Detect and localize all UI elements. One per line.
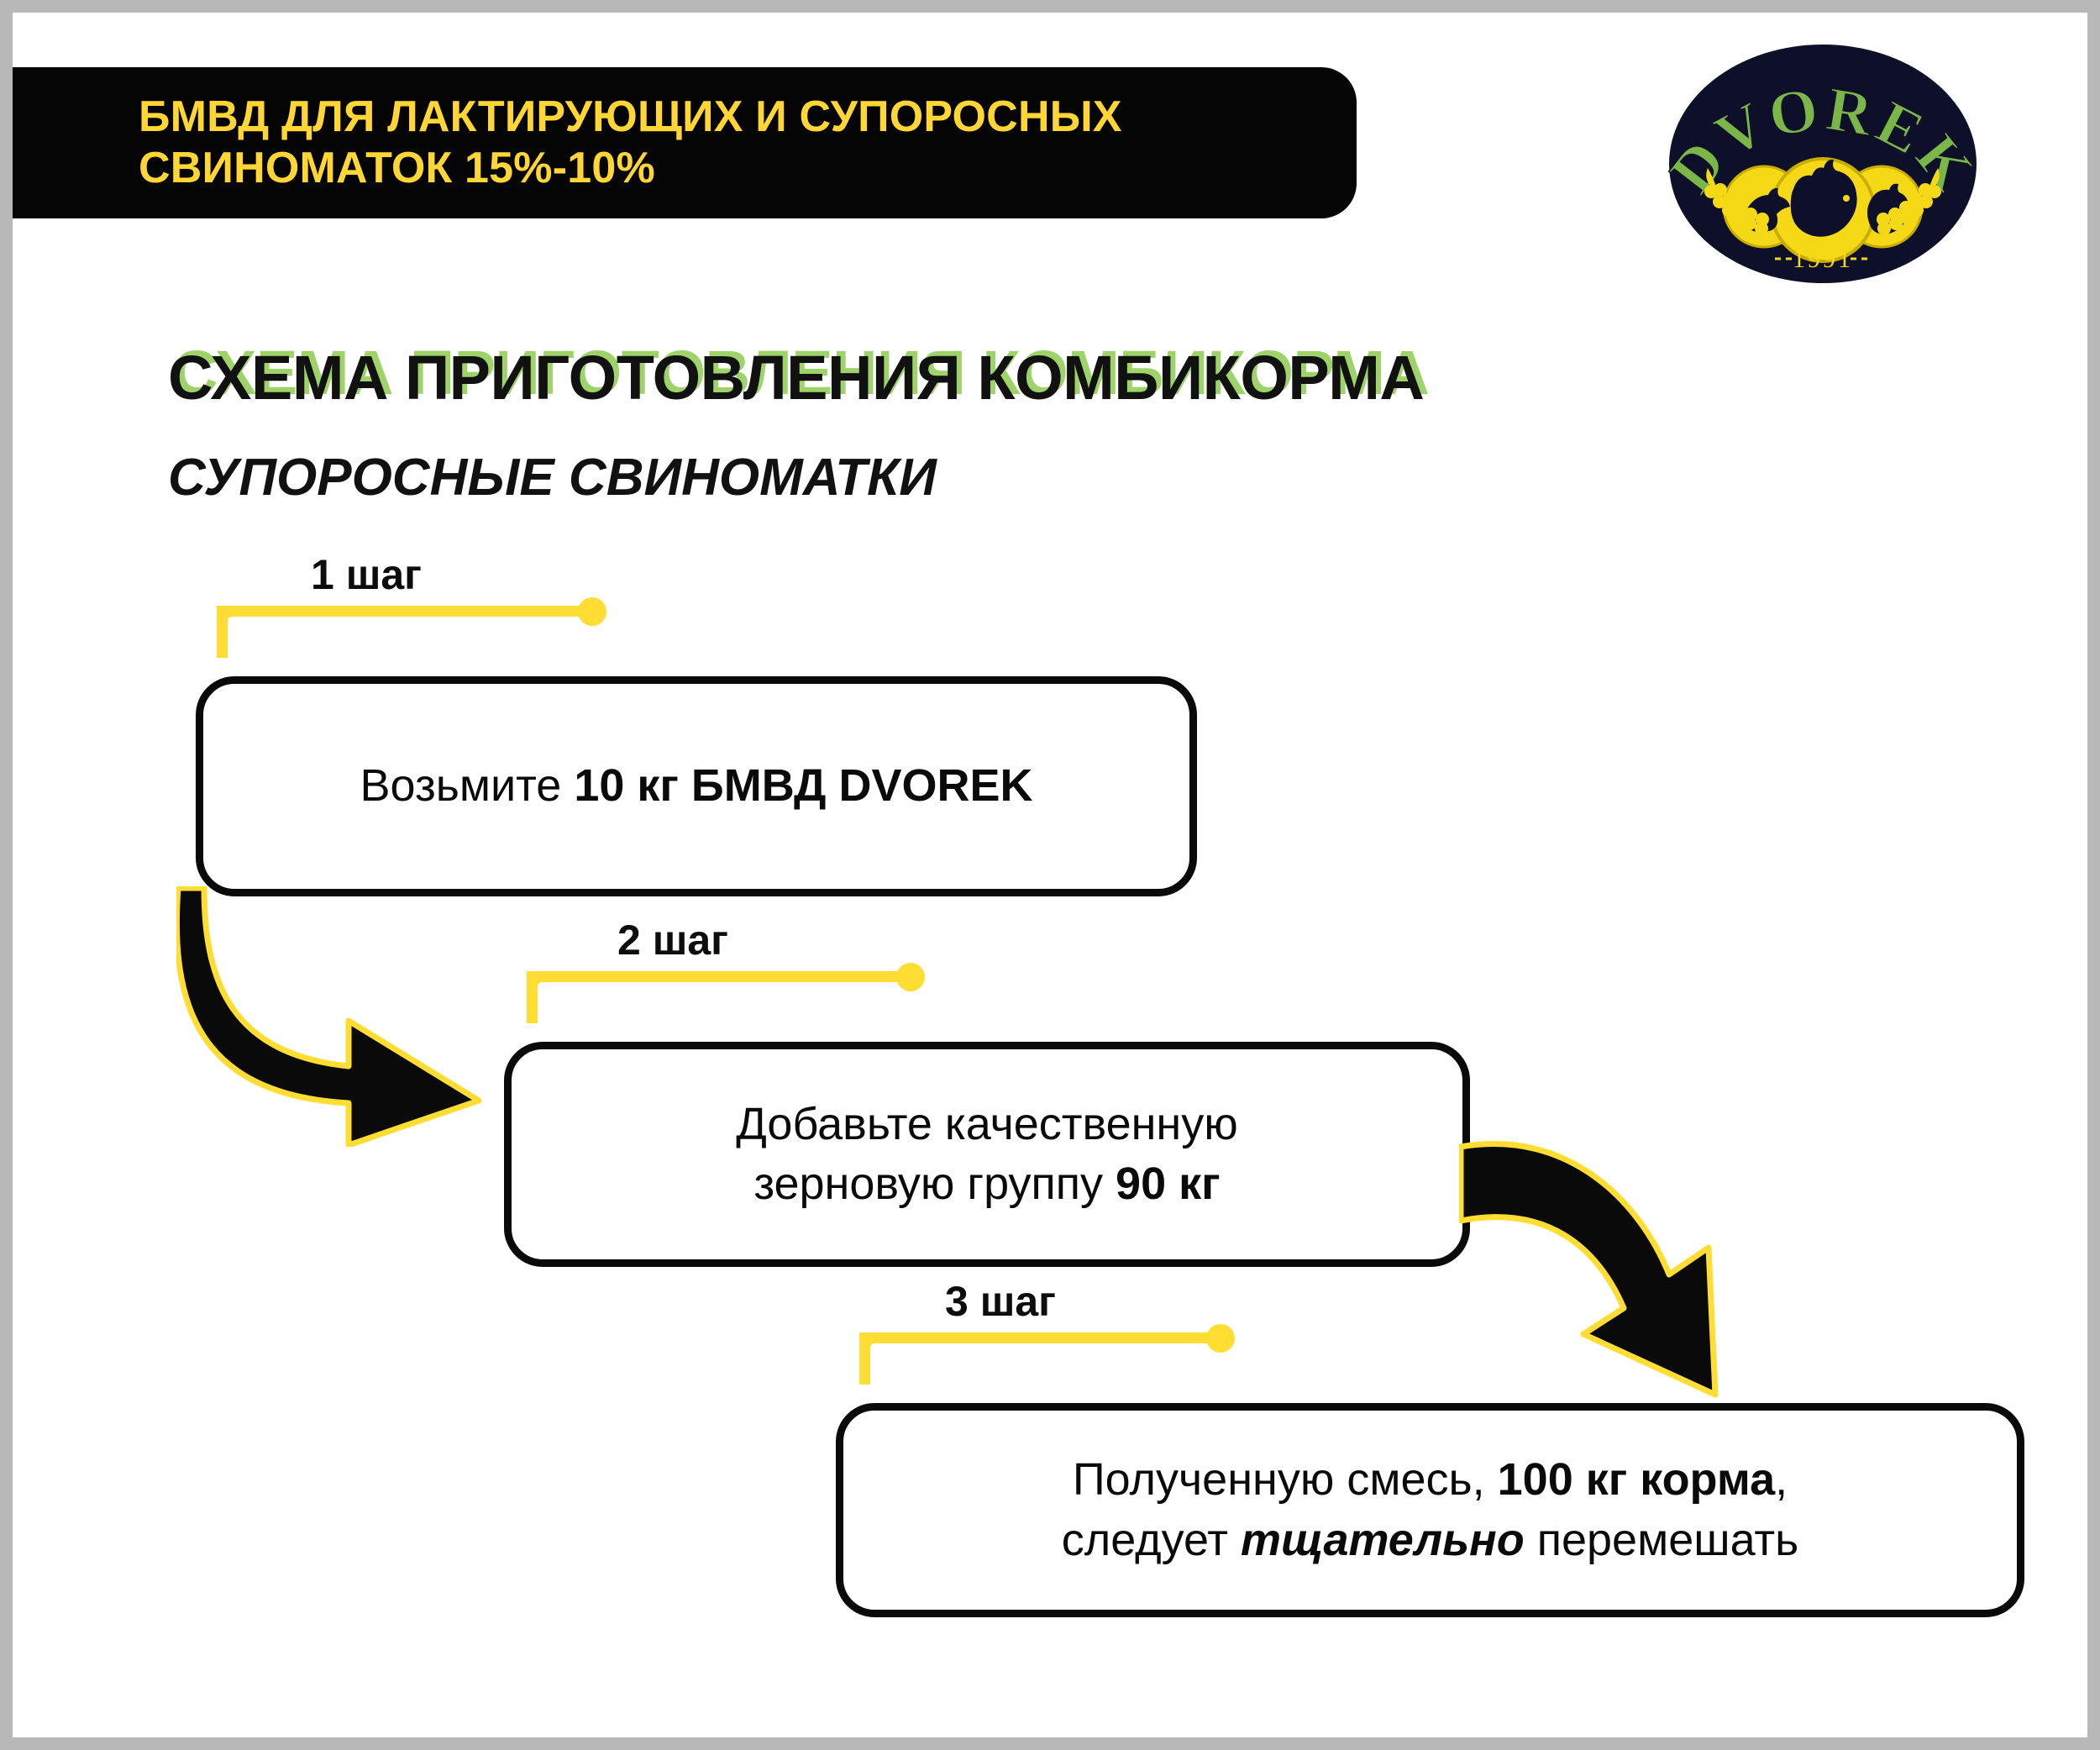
page-subtitle: СУПОРОСНЫЕ СВИНОМАТКИ [168,448,937,507]
step-2-box: Добавьте качественнуюзерновую группу 90 … [504,1042,1470,1267]
step-3-box: Полученную смесь, 100 кг корма,следует т… [836,1403,2024,1617]
dvorek-logo: DVOREK [1667,42,1978,286]
step-3-label: 3 шаг [945,1277,1056,1326]
step-2-label: 2 шаг [617,916,728,964]
header-banner-title: БМВД ДЛЯ ЛАКТИРУЮЩИХ И СУПОРОСНЫХ СВИНОМ… [13,92,1147,195]
step-2-text: Добавьте качественнуюзерновую группу 90 … [707,1095,1267,1215]
connector-dot [896,963,925,991]
step-1-label: 1 шаг [311,550,422,599]
step-1-box: Возьмите 10 кг БМВД DVOREK [196,676,1197,896]
connector-dot [1206,1324,1235,1353]
connector-horizontal [859,1332,1219,1343]
connector-horizontal [217,606,591,617]
page-title: СХЕМА ПРИГОТОВЛЕНИЯ КОМБИКОРМА [168,342,1424,413]
connector-dot [578,597,606,626]
dvorek-logo-svg: DVOREK [1667,42,1978,286]
arrow-step1-to-step2 [176,886,529,1147]
step-1-text: Возьмите 10 кг БМВД DVOREK [332,756,1062,816]
arrow-step2-to-step3 [1459,1122,1761,1399]
poster-canvas: БМВД ДЛЯ ЛАКТИРУЮЩИХ И СУПОРОСНЫХ СВИНОМ… [13,13,2087,1737]
connector-horizontal [527,971,909,982]
step-3-text: Полученную смесь, 100 кг корма,следует т… [1033,1450,1828,1570]
logo-year-text: 1991 [1793,245,1853,273]
header-banner: БМВД ДЛЯ ЛАКТИРУЮЩИХ И СУПОРОСНЫХ СВИНОМ… [13,67,1357,218]
